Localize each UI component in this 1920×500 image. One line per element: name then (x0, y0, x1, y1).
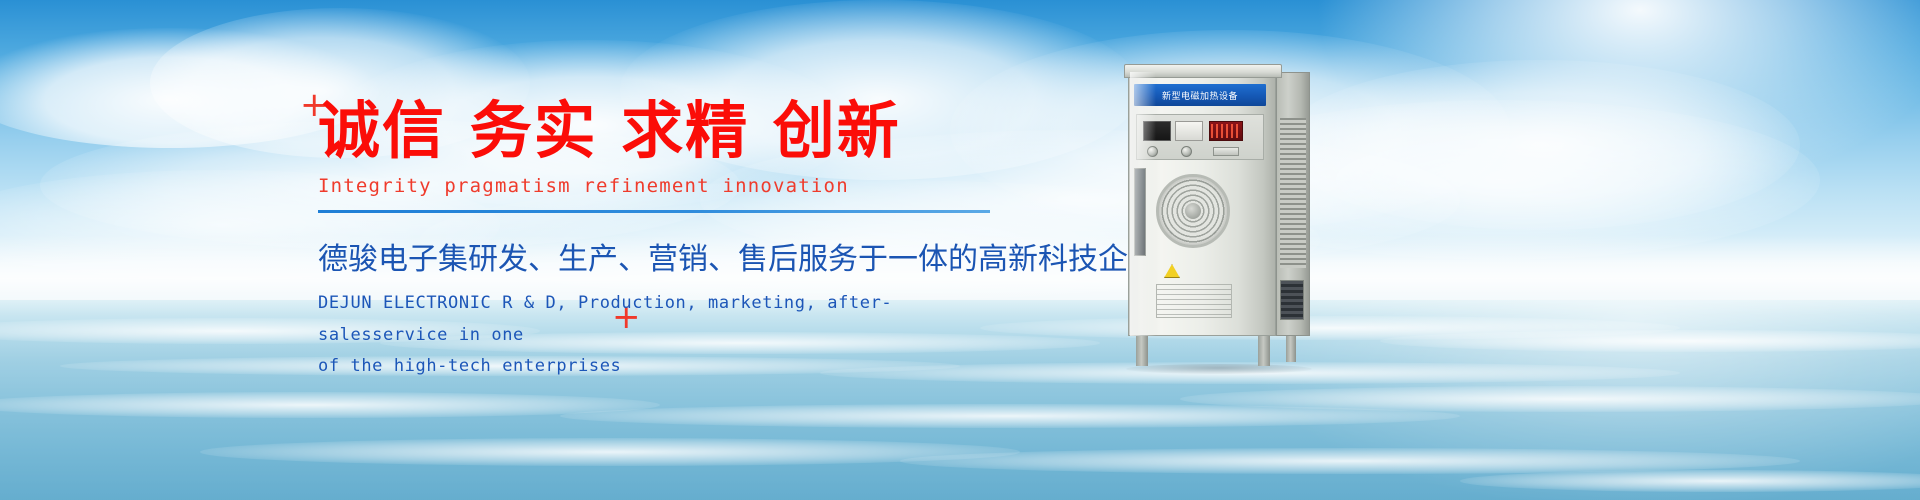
toggle-switch-icon (1213, 147, 1239, 156)
description-english-line-1: DEJUN ELECTRONIC R & D, Production, mark… (318, 288, 1018, 351)
product-induction-heater: 新型电磁加热设备 (1120, 58, 1320, 358)
machine-leg (1136, 336, 1148, 366)
banner-text-block: 诚信 务实 求精 创新 Integrity pragmatism refinem… (318, 96, 1018, 383)
description-english-line-2: of the high-tech enterprises (318, 351, 1018, 382)
headline-chinese: 诚信 务实 求精 创新 (318, 96, 1018, 165)
machine-leg (1286, 336, 1296, 362)
divider-rule (318, 210, 990, 213)
company-hero-banner: + + 诚信 务实 求精 创新 Integrity pragmatism ref… (0, 0, 1920, 500)
machine-label-plate: 新型电磁加热设备 (1134, 84, 1266, 106)
indicator-lamps-icon (1211, 124, 1241, 138)
water-sun-glow (1250, 300, 1920, 500)
machine-shadow (1126, 364, 1312, 374)
machine-rating-plate (1156, 284, 1232, 318)
machine-control-panel (1136, 114, 1264, 160)
control-knob-icon (1147, 146, 1158, 157)
digital-display-icon (1143, 121, 1171, 141)
machine-bottom-grille (1280, 280, 1304, 320)
analog-gauge-icon (1175, 121, 1203, 141)
description-english: DEJUN ELECTRONIC R & D, Production, mark… (318, 288, 1018, 382)
cooling-fan-icon (1156, 174, 1230, 248)
machine-vent-slots (1280, 118, 1306, 268)
description-chinese: 德骏电子集研发、生产、营销、售后服务于一体的高新科技企业 (318, 234, 1018, 278)
machine-leg (1258, 336, 1270, 366)
machine-top-cover (1124, 64, 1282, 78)
machine-label-text: 新型电磁加热设备 (1162, 89, 1238, 102)
control-knob-icon (1181, 146, 1192, 157)
headline-english: Integrity pragmatism refinement innovati… (318, 175, 1018, 197)
wave-highlight (200, 438, 1020, 466)
machine-side-strip (1134, 168, 1146, 256)
